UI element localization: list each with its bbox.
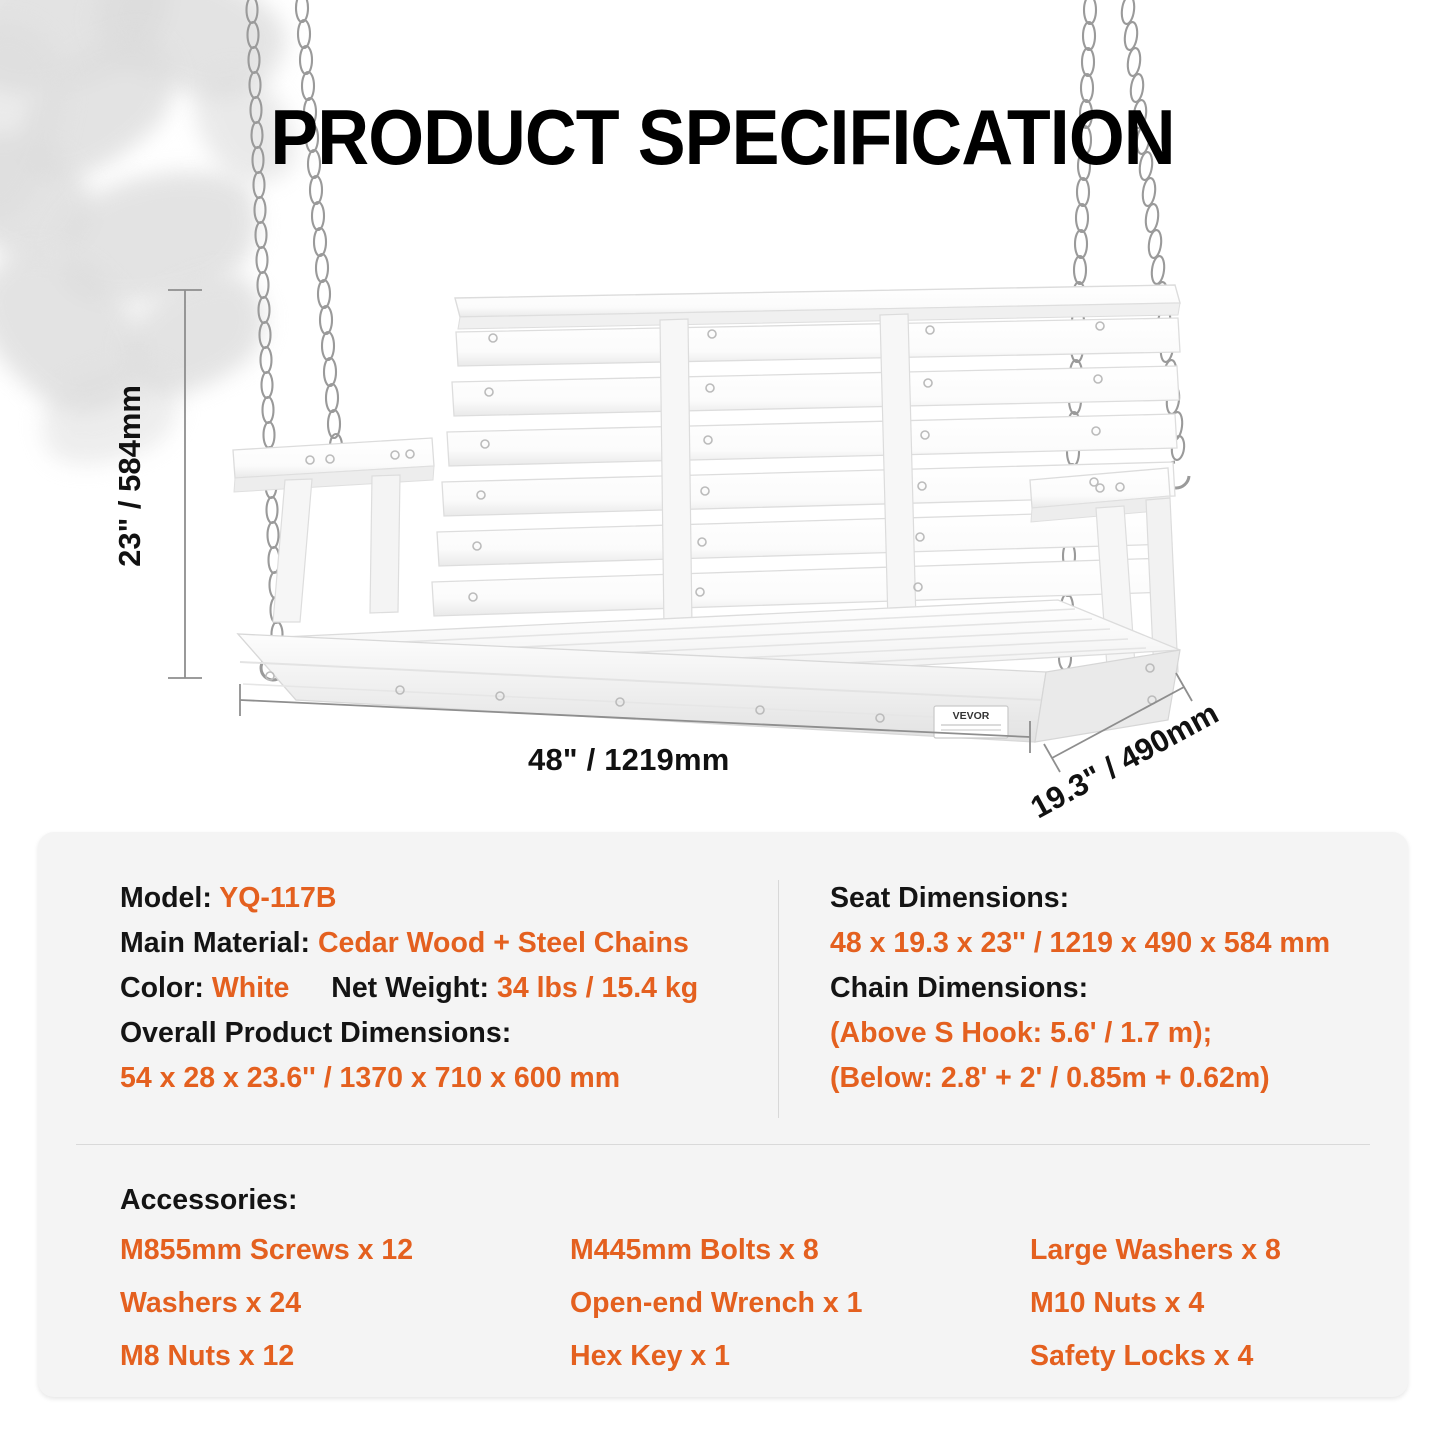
- accessory-item: Large Washers x 8: [1010, 1229, 1358, 1271]
- spec-label-material: Main Material:: [120, 927, 310, 959]
- spec-row-material: Main Material: Cedar Wood + Steel Chains: [120, 921, 760, 966]
- accessories-title: Accessories:: [120, 1184, 1358, 1217]
- accessory-item: M445mm Bolts x 8: [570, 1229, 1010, 1271]
- spec-label-seat-dimensions: Seat Dimensions:: [830, 882, 1069, 914]
- spec-value-material: Cedar Wood + Steel Chains: [318, 927, 689, 959]
- vertical-divider: [778, 880, 779, 1118]
- spec-row-chain-above: (Above S Hook: 5.6' / 1.7 m);: [830, 1011, 1390, 1056]
- accessory-item: Open-end Wrench x 1: [570, 1282, 1010, 1324]
- accessory-item: Hex Key x 1: [570, 1335, 1010, 1377]
- dimension-width-label: 48" / 1219mm: [528, 742, 730, 778]
- spec-value-overall-dimensions: 54 x 28 x 23.6'' / 1370 x 710 x 600 mm: [120, 1062, 620, 1094]
- spec-label-model: Model:: [120, 882, 212, 914]
- spec-value-chain-below: (Below: 2.8' + 2' / 0.85m + 0.62m): [830, 1062, 1270, 1094]
- spec-label-color: Color:: [120, 972, 204, 1004]
- spec-value-chain-above: (Above S Hook: 5.6' / 1.7 m);: [830, 1017, 1212, 1049]
- dimension-height-label: 23" / 584mm: [112, 385, 148, 567]
- accessories-section: Accessories: M855mm Screws x 12 M445mm B…: [120, 1184, 1358, 1377]
- left-armrest: [233, 438, 434, 622]
- spec-row-seat-value: 48 x 19.3 x 23'' / 1219 x 490 x 584 mm: [830, 921, 1390, 966]
- spec-row-chain-below: (Below: 2.8' + 2' / 0.85m + 0.62m): [830, 1056, 1390, 1101]
- spec-label-chain-dimensions: Chain Dimensions:: [830, 972, 1088, 1004]
- swing-body: [233, 285, 1180, 742]
- spec-row-color-weight: Color: White Net Weight: 34 lbs / 15.4 k…: [120, 966, 760, 1011]
- horizontal-divider: [76, 1144, 1370, 1145]
- spec-value-color: White: [212, 972, 290, 1004]
- spec-row-model: Model: YQ-117B: [120, 876, 760, 921]
- spec-row-seat-title: Seat Dimensions:: [830, 876, 1390, 921]
- accessory-item: M855mm Screws x 12: [120, 1229, 570, 1271]
- spec-row-chain-title: Chain Dimensions:: [830, 966, 1390, 1011]
- product-specification-page: PRODUCT SPECIFICATION: [0, 0, 1445, 1445]
- accessory-item: Safety Locks x 4: [1010, 1335, 1358, 1377]
- spec-value-model: YQ-117B: [219, 882, 336, 914]
- accessory-item: Washers x 24: [120, 1282, 570, 1324]
- spec-label-net-weight: Net Weight:: [331, 972, 489, 1004]
- spec-column-right: Seat Dimensions: 48 x 19.3 x 23'' / 1219…: [830, 876, 1390, 1101]
- spec-row-overall-value: 54 x 28 x 23.6'' / 1370 x 710 x 600 mm: [120, 1056, 760, 1101]
- spec-column-left: Model: YQ-117B Main Material: Cedar Wood…: [120, 876, 760, 1101]
- svg-text:VEVOR: VEVOR: [953, 710, 990, 722]
- spec-row-overall-title: Overall Product Dimensions:: [120, 1011, 760, 1056]
- accessory-item: M10 Nuts x 4: [1010, 1282, 1358, 1324]
- specification-card: Model: YQ-117B Main Material: Cedar Wood…: [38, 832, 1408, 1397]
- spec-value-net-weight: 34 lbs / 15.4 kg: [497, 972, 698, 1004]
- spec-label-overall-dimensions: Overall Product Dimensions:: [120, 1017, 511, 1049]
- spec-card-top: Model: YQ-117B Main Material: Cedar Wood…: [38, 832, 1408, 1144]
- accessory-item: M8 Nuts x 12: [120, 1335, 570, 1377]
- page-title: PRODUCT SPECIFICATION: [58, 92, 1387, 183]
- spec-value-seat-dimensions: 48 x 19.3 x 23'' / 1219 x 490 x 584 mm: [830, 927, 1330, 959]
- accessories-grid: M855mm Screws x 12 M445mm Bolts x 8 Larg…: [120, 1229, 1358, 1377]
